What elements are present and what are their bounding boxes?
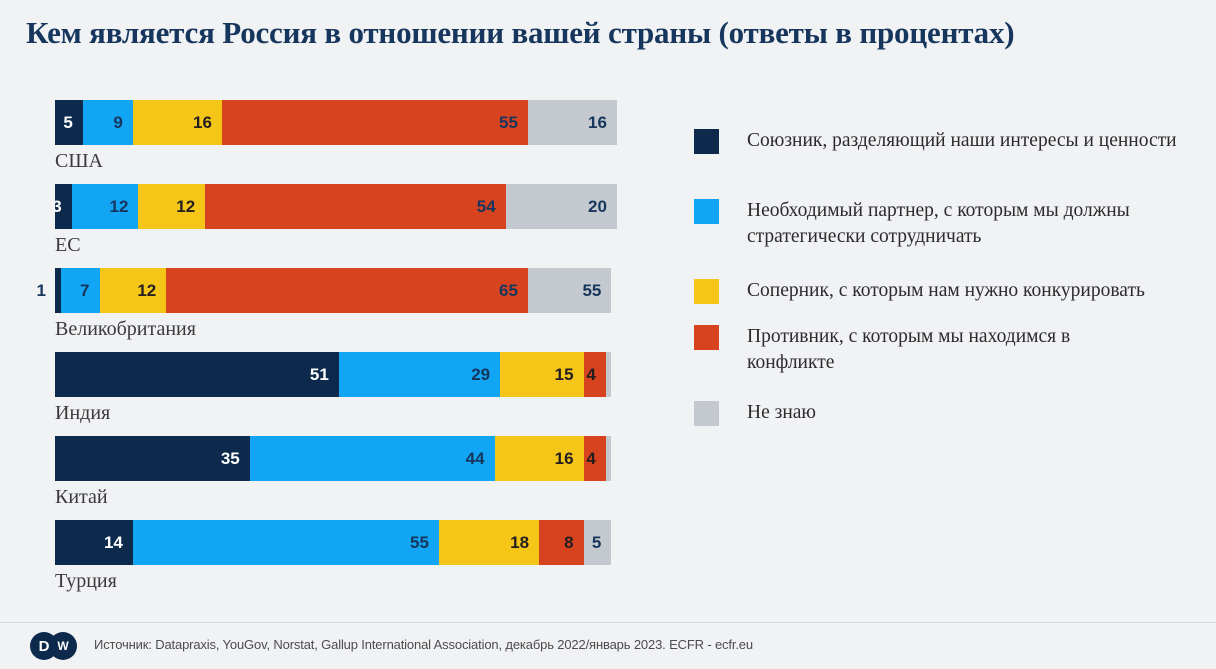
bar-segment-value: 55 (499, 114, 528, 131)
stacked-bar-chart: 59165516США312125420ЕС17126555Великобрит… (0, 100, 660, 610)
infographic-page: Кем является Россия в отношении вашей ст… (0, 0, 1216, 668)
bar-segment-dontknow (606, 436, 612, 481)
bar-segment-value: 20 (588, 198, 617, 215)
bar-segment-enemy: 54 (205, 184, 505, 229)
bar-segment-ally: 35 (55, 436, 250, 481)
bar-track: 3544164 (55, 436, 617, 481)
bar-segment-value: 14 (104, 534, 133, 551)
bar-segment-value: 7 (80, 282, 99, 299)
bar-segment-rival: 16 (133, 100, 222, 145)
bar-segment-ally: 5 (55, 100, 83, 145)
bar-segment-value: 55 (582, 282, 611, 299)
bar-segment-value: 55 (410, 534, 439, 551)
bar-segment-ally: 51 (55, 352, 339, 397)
dw-logo-icon: W D (30, 632, 82, 660)
bar-segment-partner: 55 (133, 520, 439, 565)
dw-logo-w-letter: W (57, 639, 68, 653)
bar-segment-enemy: 4 (584, 352, 606, 397)
bar-segment-rival: 12 (100, 268, 167, 313)
source-text: Источник: Datapraxis, YouGov, Norstat, G… (94, 637, 753, 652)
bar-track: 14551885 (55, 520, 617, 565)
bar-segment-value: 51 (310, 366, 339, 383)
bar-segment-value: 15 (555, 366, 584, 383)
bar-segment-value: 5 (63, 114, 82, 131)
bar-segment-value: 8 (564, 534, 583, 551)
bar-segment-dontknow: 20 (506, 184, 617, 229)
bar-segment-ally: 14 (55, 520, 133, 565)
bar-segment-enemy: 8 (539, 520, 584, 565)
bar-segment-value: 16 (588, 114, 617, 131)
page-title: Кем является Россия в отношении вашей ст… (26, 14, 1166, 52)
bar-segment-value: 5 (592, 534, 611, 551)
country-label: США (55, 150, 103, 173)
legend-swatch-rival-icon (694, 279, 719, 304)
dw-logo-d: D (30, 632, 58, 660)
legend-swatch-ally-icon (694, 129, 719, 154)
bar-segment-value: 12 (110, 198, 139, 215)
bar-segment-dontknow (606, 352, 612, 397)
bar-segment-partner: 29 (339, 352, 500, 397)
legend-item-dontknow[interactable]: Не знаю (694, 400, 816, 426)
legend-label: Не знаю (747, 400, 816, 426)
country-label: Индия (55, 402, 110, 425)
bar-segment-partner: 44 (250, 436, 495, 481)
bar-segment-value: 3 (52, 198, 71, 215)
legend-item-partner[interactable]: Необходимый партнер, с которым мы должны… (694, 198, 1147, 250)
legend-swatch-dontknow-icon (694, 401, 719, 426)
bar-segment-value: 65 (499, 282, 528, 299)
dw-logo-d-letter: D (39, 638, 50, 655)
legend-item-ally[interactable]: Союзник, разделяющий наши интересы и цен… (694, 128, 1177, 154)
legend-item-rival[interactable]: Соперник, с которым нам нужно конкуриров… (694, 278, 1145, 304)
legend-label: Соперник, с которым нам нужно конкуриров… (747, 278, 1145, 304)
bar-segment-rival: 16 (495, 436, 584, 481)
bar-segment-enemy: 4 (584, 436, 606, 481)
bar-segment-partner: 12 (72, 184, 139, 229)
footer: W D Источник: Datapraxis, YouGov, Norsta… (0, 622, 1216, 669)
bar-segment-value: 44 (466, 450, 495, 467)
country-label: ЕС (55, 234, 81, 257)
bar-segment-value: 18 (510, 534, 539, 551)
bar-segment-value: 1 (37, 268, 55, 313)
bar-segment-value: 35 (221, 450, 250, 467)
bar-segment-value: 16 (193, 114, 222, 131)
bar-segment-rival: 18 (439, 520, 539, 565)
legend-label: Противник, с которым мы находимся в конф… (747, 324, 1077, 376)
bar-segment-rival: 15 (500, 352, 583, 397)
bar-segment-enemy: 55 (222, 100, 528, 145)
bar-track: 5129154 (55, 352, 617, 397)
country-label: Великобритания (55, 318, 196, 341)
bar-segment-dontknow: 16 (528, 100, 617, 145)
legend-label: Союзник, разделяющий наши интересы и цен… (747, 128, 1177, 154)
legend-item-enemy[interactable]: Противник, с которым мы находимся в конф… (694, 324, 1077, 376)
country-label: Турция (55, 570, 117, 593)
bar-segment-value: 4 (586, 366, 605, 383)
bar-track: 312125420 (55, 184, 617, 229)
bar-segment-dontknow: 55 (528, 268, 611, 313)
bar-segment-value: 29 (471, 366, 500, 383)
bar-segment-enemy: 65 (166, 268, 528, 313)
bar-segment-partner: 7 (61, 268, 100, 313)
bar-segment-dontknow: 5 (584, 520, 612, 565)
bar-segment-value: 16 (555, 450, 584, 467)
bar-segment-value: 9 (113, 114, 132, 131)
legend-swatch-partner-icon (694, 199, 719, 224)
bar-track: 59165516 (55, 100, 617, 145)
bar-segment-partner: 9 (83, 100, 133, 145)
bar-segment-value: 12 (176, 198, 205, 215)
bar-segment-ally: 3 (55, 184, 72, 229)
legend-label: Необходимый партнер, с которым мы должны… (747, 198, 1147, 250)
bar-track: 17126555 (55, 268, 617, 313)
bar-segment-rival: 12 (138, 184, 205, 229)
bar-segment-value: 54 (477, 198, 506, 215)
bar-segment-value: 4 (586, 450, 605, 467)
country-label: Китай (55, 486, 108, 509)
legend-swatch-enemy-icon (694, 325, 719, 350)
bar-segment-value: 12 (137, 282, 166, 299)
